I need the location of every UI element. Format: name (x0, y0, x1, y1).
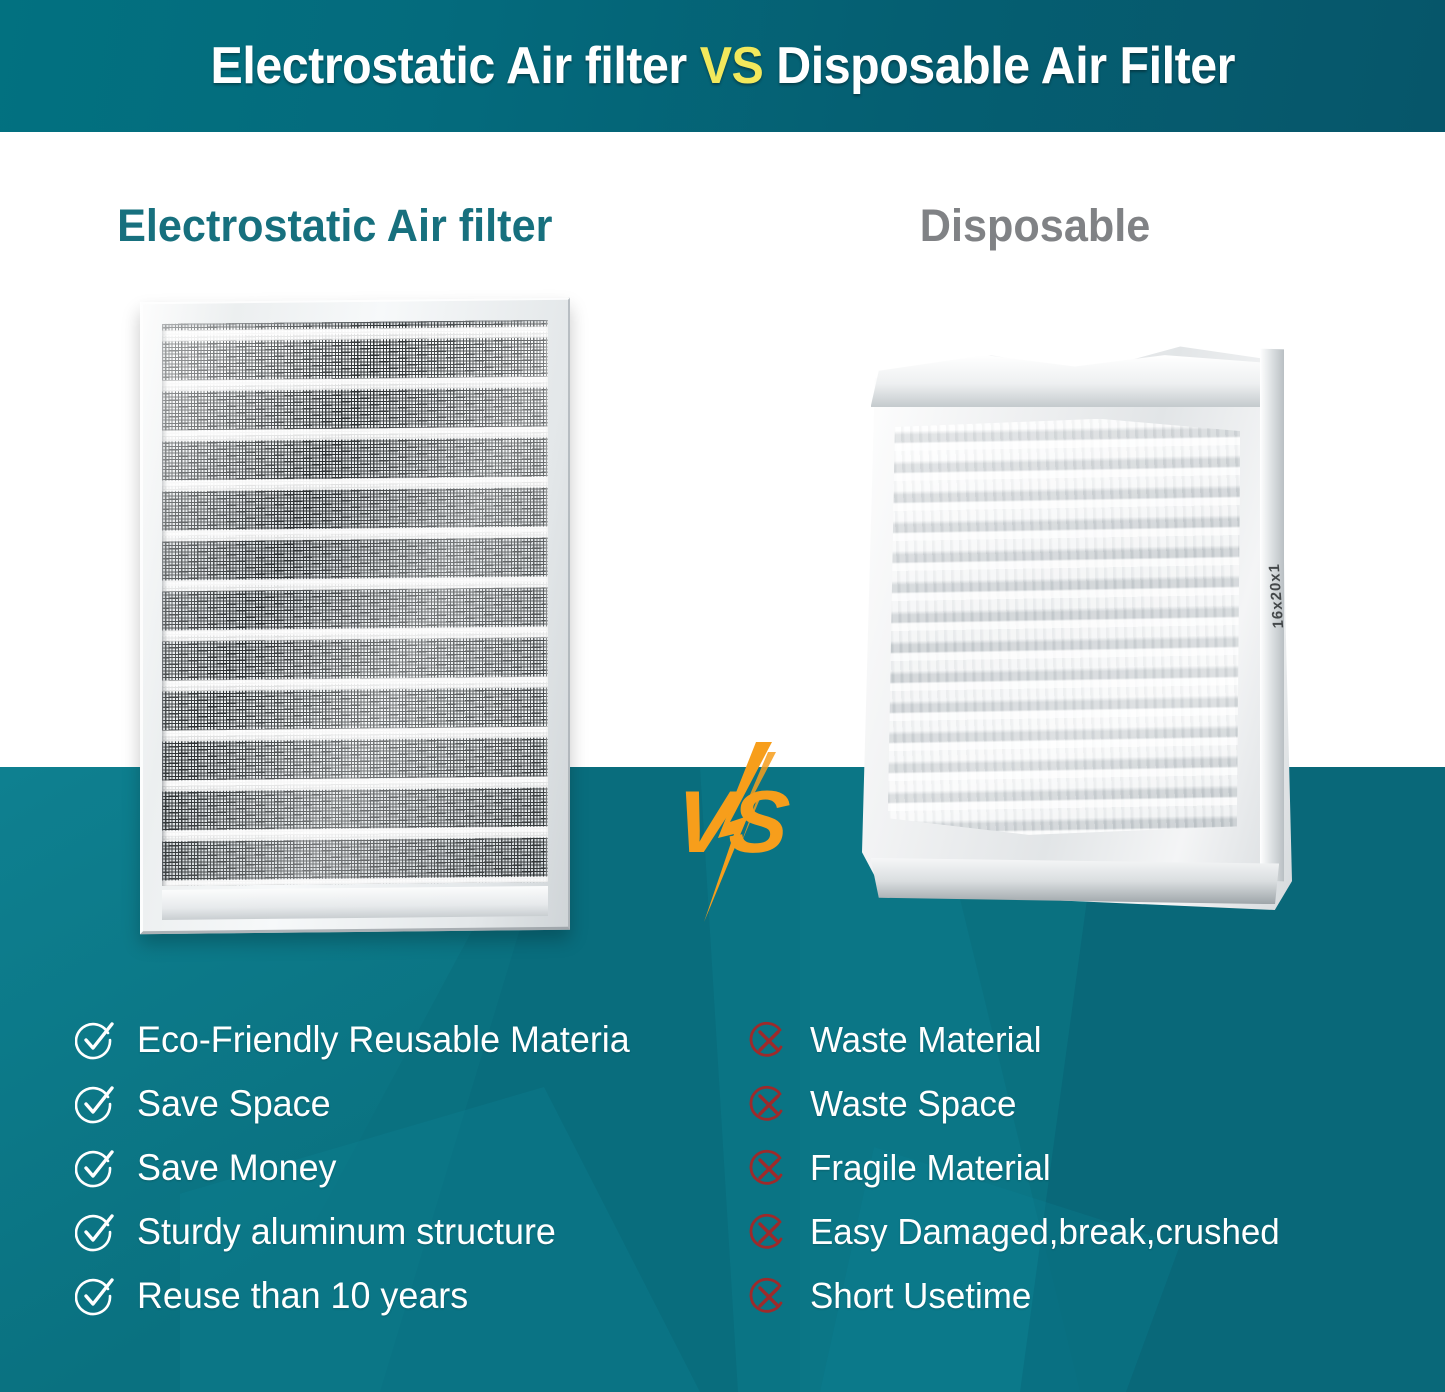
filter-frame-bottom-rail (162, 886, 548, 920)
list-item-label: Easy Damaged,break,crushed (810, 1211, 1280, 1253)
cons-list: Waste Material Waste Space Fragile Mater… (748, 1008, 1408, 1328)
disposable-filter-bottom-frame (871, 858, 1280, 904)
electrostatic-filter-image (140, 298, 570, 935)
x-circle-icon (748, 1020, 788, 1060)
caption-disposable: Disposable (920, 200, 1150, 252)
list-item: Sturdy aluminum structure (75, 1200, 715, 1264)
check-circle-icon (75, 1148, 115, 1188)
list-item-label: Waste Material (810, 1019, 1042, 1061)
disposable-filter-image: 16x20x1 (862, 332, 1292, 910)
title-vs: VS (699, 37, 763, 95)
x-circle-icon (748, 1148, 788, 1188)
list-item-label: Fragile Material (810, 1147, 1051, 1189)
vs-badge: VS (660, 742, 800, 922)
x-circle-icon (748, 1276, 788, 1316)
title-part-1: Electrostatic Air filter (210, 37, 699, 95)
title-part-2: Disposable Air Filter (763, 37, 1235, 95)
list-item: Short Usetime (748, 1264, 1408, 1328)
list-item-label: Short Usetime (810, 1275, 1031, 1317)
pros-list: Eco-Friendly Reusable Materia Save Space… (75, 1008, 715, 1328)
check-circle-icon (75, 1084, 115, 1124)
header-banner: Electrostatic Air filter VS Disposable A… (0, 0, 1445, 132)
list-item: Save Space (75, 1072, 715, 1136)
list-item-label: Eco-Friendly Reusable Materia (137, 1019, 630, 1061)
caption-electrostatic: Electrostatic Air filter (117, 200, 552, 252)
check-circle-icon (75, 1212, 115, 1252)
x-circle-icon (748, 1084, 788, 1124)
disposable-filter-media-pad (888, 419, 1241, 835)
list-item: Fragile Material (748, 1136, 1408, 1200)
list-item-label: Sturdy aluminum structure (137, 1211, 556, 1253)
list-item-label: Reuse than 10 years (137, 1275, 468, 1317)
disposable-filter-top-frame (871, 355, 1280, 407)
x-circle-icon (748, 1212, 788, 1252)
check-circle-icon (75, 1276, 115, 1316)
list-item: Eco-Friendly Reusable Materia (75, 1008, 715, 1072)
list-item-label: Save Money (137, 1147, 337, 1189)
list-item: Reuse than 10 years (75, 1264, 715, 1328)
filter-mesh-texture (162, 320, 548, 886)
list-item: Save Money (75, 1136, 715, 1200)
vs-label: VS (655, 778, 804, 866)
page-title: Electrostatic Air filter VS Disposable A… (210, 36, 1234, 96)
check-circle-icon (75, 1020, 115, 1060)
list-item-label: Waste Space (810, 1083, 1016, 1125)
list-item-label: Save Space (137, 1083, 331, 1125)
list-item: Waste Space (748, 1072, 1408, 1136)
list-item: Waste Material (748, 1008, 1408, 1072)
list-item: Easy Damaged,break,crushed (748, 1200, 1408, 1264)
